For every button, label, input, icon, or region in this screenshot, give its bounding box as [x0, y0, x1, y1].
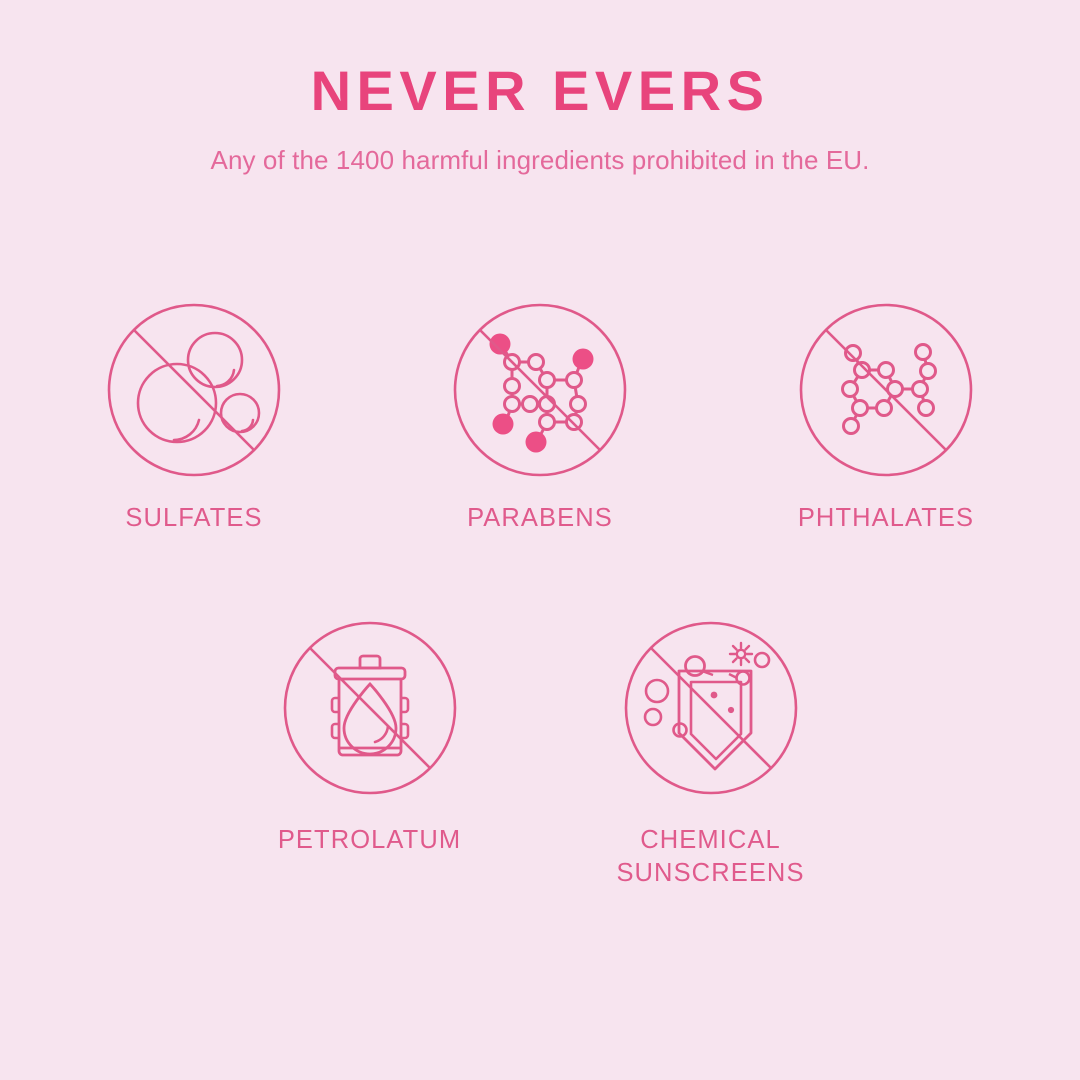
no-sulfates-bubbles-icon: [104, 300, 284, 480]
no-chemical-sunscreens-icon: [621, 618, 801, 798]
item-petrolatum: PETROLATUM: [262, 618, 477, 858]
icon-row-1: SULFATES: [0, 300, 1080, 536]
header: NEVER EVERS Any of the 1400 harmful ingr…: [0, 62, 1080, 176]
no-parabens-molecule-icon: [450, 300, 630, 480]
icon-grid: SULFATES: [0, 300, 1080, 891]
item-phthalates: PHTHALATES: [779, 300, 994, 536]
no-phthalates-molecule-icon: [796, 300, 976, 480]
item-sulfates: SULFATES: [87, 300, 302, 536]
never-evers-infographic: NEVER EVERS Any of the 1400 harmful ingr…: [0, 0, 1080, 1080]
item-parabens: PARABENS: [433, 300, 648, 536]
page-subtitle: Any of the 1400 harmful ingredients proh…: [0, 145, 1080, 176]
item-label: SULFATES: [125, 502, 262, 536]
item-label: PHTHALATES: [798, 502, 974, 536]
page-title: NEVER EVERS: [0, 62, 1080, 119]
item-label: PETROLATUM: [278, 824, 461, 858]
item-chemical-sunscreens: CHEMICAL SUNSCREENS: [603, 618, 818, 891]
no-petrolatum-barrel-icon: [280, 618, 460, 798]
item-label: CHEMICAL SUNSCREENS: [616, 824, 804, 891]
item-label: PARABENS: [467, 502, 613, 536]
icon-row-2: PETROLATUM: [0, 618, 1080, 891]
